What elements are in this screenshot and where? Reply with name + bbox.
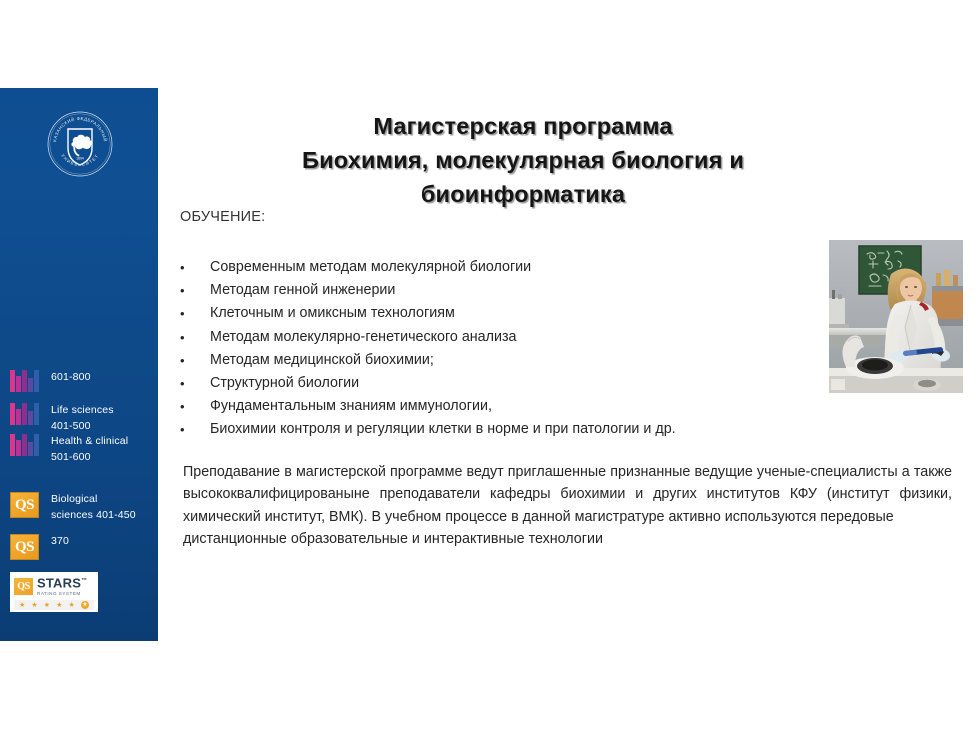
list-item-label: Методам генной инженерии [210,279,860,302]
ranking-text: 370 [39,534,69,550]
star-icon: ★ [19,602,25,609]
qs-mark-icon: QS [14,578,33,595]
teaching-description-paragraph: Преподавание в магистерской программе ве… [183,461,952,551]
svg-text:1804: 1804 [76,157,84,161]
list-item: • Методам генной инженерии [180,279,860,302]
ranking-text: Health & clinical 501-600 [39,434,128,465]
list-item: • Структурной биологии [180,372,860,395]
qs-stars-wordmark: STARS™ RATING SYSTEM [33,575,87,597]
list-item: • Фундаментальным знаниям иммунологии, [180,395,860,418]
list-item-label: Клеточным и омиксным технологиям [210,302,860,325]
section-label-training: ОБУЧЕНИЕ: [180,209,265,225]
qs-stars-rating-strip: ★ ★ ★ ★ ★ ★ [14,600,94,610]
star-icon: ★ [69,602,75,609]
list-item-label: Методам молекулярно-генетического анализ… [210,326,860,349]
kfu-seal-icon: КАЗАНСКИЙ ФЕДЕРАЛЬНЫЙ УНИВЕРСИТЕТ 1804 [46,110,114,178]
qs-stars-badge: QS STARS™ RATING SYSTEM ★ ★ ★ ★ ★ ★ [10,572,98,612]
qs-logo-icon: QS [10,492,39,518]
the-logo-icon [10,370,39,392]
list-item-label: Современным методам молекулярной биологи… [210,256,860,279]
ranking-row: 601-800 [10,370,91,392]
kfu-seal-svg: КАЗАНСКИЙ ФЕДЕРАЛЬНЫЙ УНИВЕРСИТЕТ 1804 [46,110,114,178]
star-icon: ★ [44,602,50,609]
qs-stars-title: STARS™ [37,575,87,589]
the-logo-icon [10,434,39,456]
ranking-row: Health & clinical 501-600 [10,434,128,465]
list-item: • Современным методам молекулярной биоло… [180,256,860,279]
list-item: • Клеточным и омиксным технологиям [180,302,860,325]
title-line: Биохимия, молекулярная биология и [178,143,868,177]
the-logo-icon [10,403,39,425]
ranking-text: Life sciences 401-500 [39,403,114,434]
ranking-row: Life sciences 401-500 [10,403,114,434]
star-icon: ★ [31,602,37,609]
ranking-row: QS Biological sciences 401-450 [10,492,136,523]
qs-logo-icon: QS [10,534,39,560]
slide-title: Магистерская программа Биохимия, молекул… [178,109,868,211]
bullet-icon: • [180,279,210,302]
title-line: Магистерская программа [178,109,868,143]
list-item-label: Методам медицинской биохимии; [210,349,860,372]
list-item: • Биохимии контроля и регуляции клетки в… [180,418,860,441]
list-item: • Методам молекулярно-генетического анал… [180,326,860,349]
star-icon-highlighted: ★ [81,601,89,609]
ranking-text: Biological sciences 401-450 [39,492,136,523]
laboratory-photo [829,240,963,393]
title-line: биоинформатика [178,177,868,211]
paragraph-body: Преподавание в магистерской программе ве… [183,464,952,525]
bullet-icon: • [180,302,210,325]
paragraph-last-line: дистанционные образовательные и интеракт… [183,528,952,550]
bullet-icon: • [180,349,210,372]
trademark-mark: ™ [81,578,87,584]
list-item: • Методам медицинской биохимии; [180,349,860,372]
training-topics-list: • Современным методам молекулярной биоло… [180,256,860,442]
qs-stars-header: QS STARS™ RATING SYSTEM [14,575,94,597]
bullet-icon: • [180,326,210,349]
list-item-label: Структурной биологии [210,372,860,395]
list-item-label: Фундаментальным знаниям иммунологии, [210,395,860,418]
laboratory-photo-svg [829,240,963,393]
star-icon: ★ [56,602,62,609]
bullet-icon: • [180,395,210,418]
bullet-icon: • [180,372,210,395]
list-item-label: Биохимии контроля и регуляции клетки в н… [210,418,860,441]
qs-stars-subtitle: RATING SYSTEM [37,590,87,597]
bullet-icon: • [180,256,210,279]
ranking-row: QS 370 [10,534,69,560]
bullet-icon: • [180,418,210,441]
ranking-text: 601-800 [39,370,91,386]
